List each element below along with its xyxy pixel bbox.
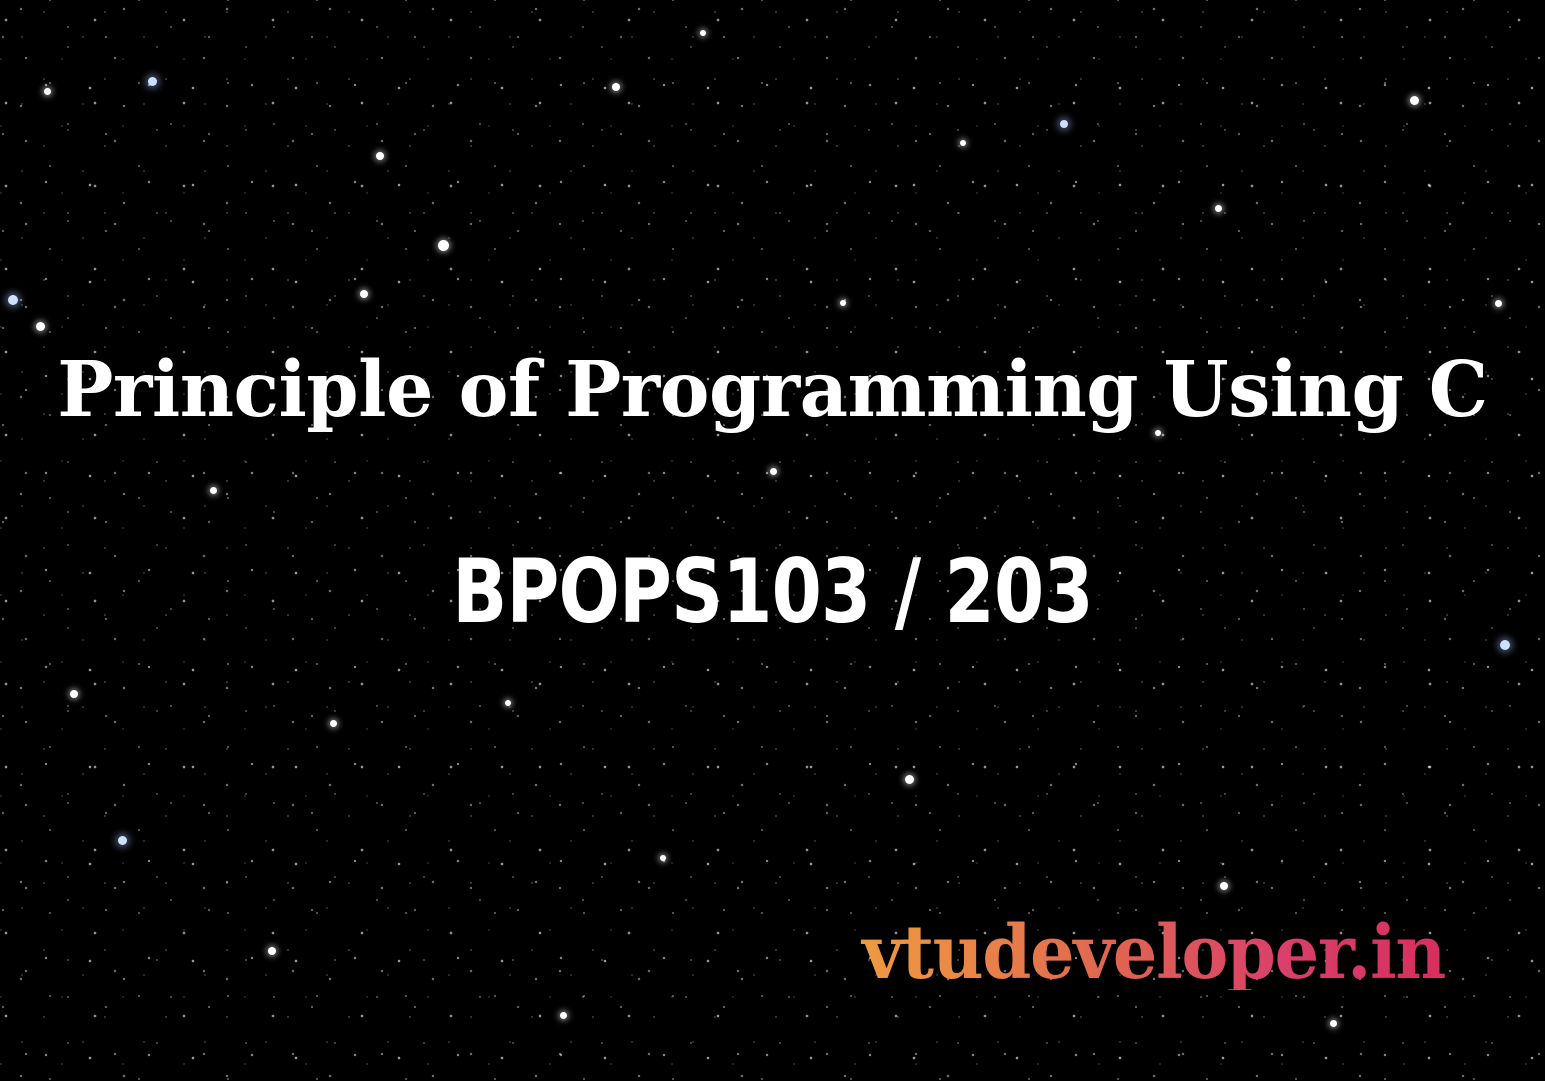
- course-code: BPOPS103 / 203: [139, 548, 1406, 636]
- banner-text-layer: Principle of Programming Using C BPOPS10…: [0, 0, 1545, 1081]
- site-watermark: vtudeveloper.in: [72, 916, 1445, 990]
- course-banner: Principle of Programming Using C BPOPS10…: [0, 0, 1545, 1081]
- course-title: Principle of Programming Using C: [23, 352, 1522, 429]
